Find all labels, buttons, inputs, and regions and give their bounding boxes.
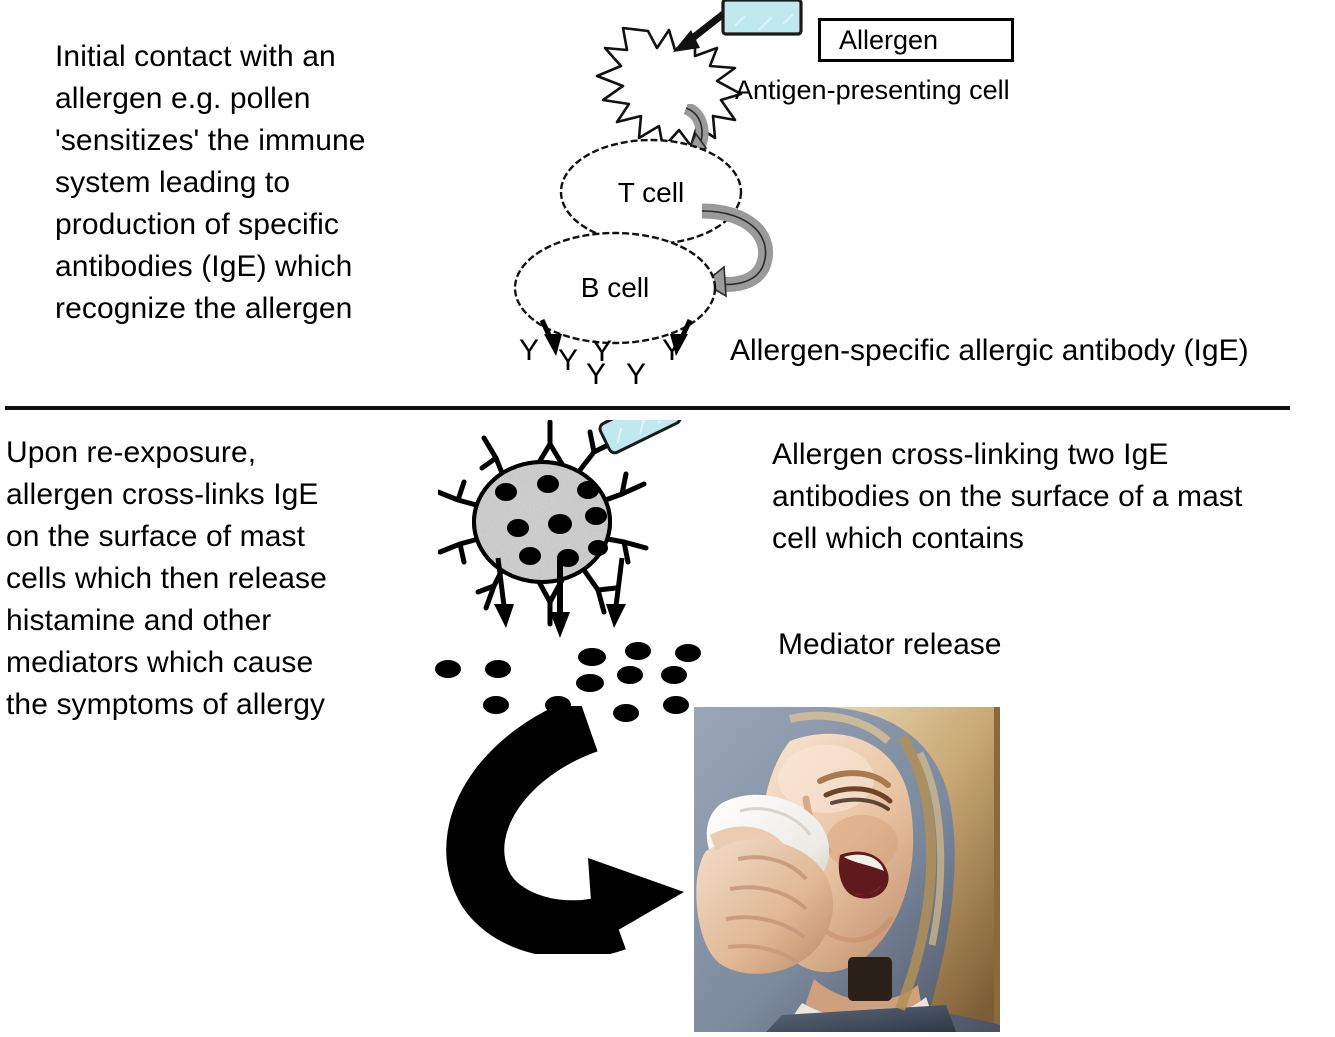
b-cell-label: B cell xyxy=(510,228,720,348)
mediator-release-arrows-icon xyxy=(480,556,640,646)
ige-antibody-icon: Y xyxy=(662,334,682,368)
released-mediators-group xyxy=(430,625,720,745)
mediator-release-label: Mediator release xyxy=(778,627,1001,663)
allergen-block-icon xyxy=(723,0,801,34)
mast-cell-icon xyxy=(474,462,610,582)
ige-antibody-icon: Y xyxy=(592,335,612,369)
sneezing-woman-photo xyxy=(694,707,1000,1032)
ige-antibody-caption: Allergen-specific allergic antibody (IgE… xyxy=(730,333,1249,369)
allergen-legend-label: Allergen xyxy=(839,26,938,54)
ige-antibody-icon: Y xyxy=(558,344,578,378)
allergen-to-apc-arrow-icon xyxy=(673,8,731,52)
curved-outcome-arrow-icon xyxy=(438,706,698,954)
ige-antibody-icon: Y xyxy=(626,358,646,392)
mast-cell-group xyxy=(438,420,708,630)
sensitization-description-text: Initial contact with an allergen e.g. po… xyxy=(55,36,455,330)
reexposure-description-text: Upon re-exposure, allergen cross-links I… xyxy=(6,432,396,726)
crosslinking-description-text: Allergen cross-linking two IgE antibodie… xyxy=(772,434,1332,560)
antigen-presenting-cell-icon xyxy=(597,28,741,148)
mediator-granule-icon xyxy=(495,475,608,567)
panel-divider xyxy=(5,406,1290,410)
allergen-legend-box: Allergen xyxy=(818,18,1014,62)
mediator-granule-icon xyxy=(435,642,701,745)
antigen-presenting-cell-label: Antigen-presenting cell xyxy=(735,72,1010,108)
ige-antibody-icon: Y xyxy=(519,334,539,368)
allergy-mechanism-diagram: Initial contact with an allergen e.g. po… xyxy=(0,0,1335,1037)
ige-receptor-icon xyxy=(438,422,646,624)
allergen-block-icon xyxy=(598,420,682,455)
